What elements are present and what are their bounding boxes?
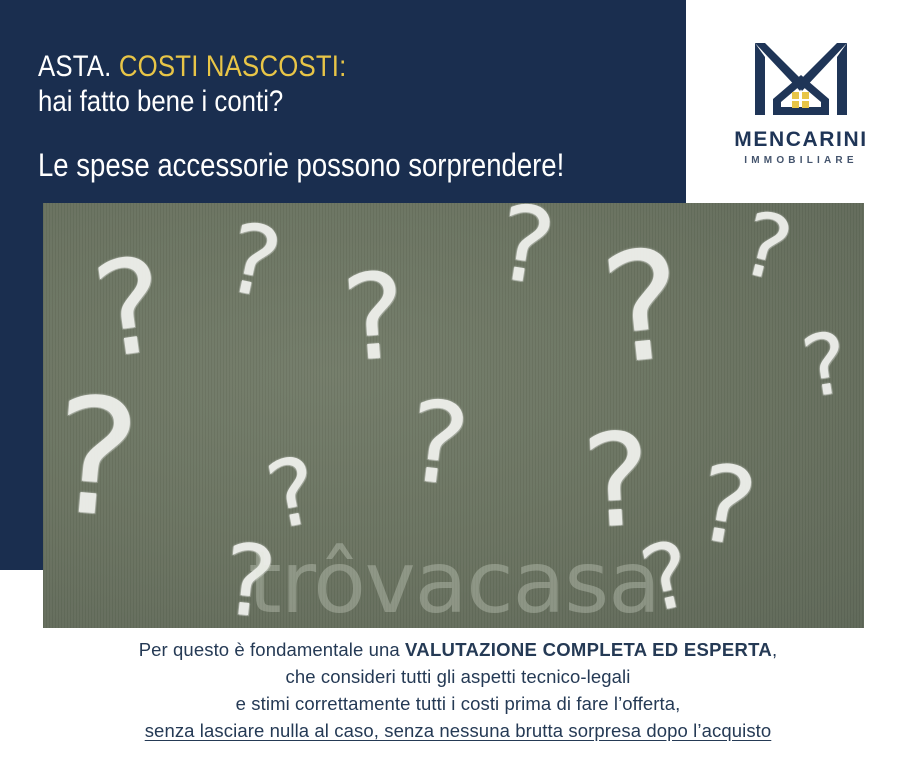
house-monogram-m-icon [745, 35, 857, 121]
chalk-question-mark: ? [46, 375, 145, 542]
poster-canvas: ASTA. COSTI NASCOSTI: hai fatto bene i c… [0, 0, 916, 768]
watermark-trovacasa: trôvacasa [248, 533, 660, 628]
headline-line-2: hai fatto bene i conti? [38, 84, 588, 120]
headline-subline: Le spese accessorie possono sorprendere! [38, 146, 588, 184]
footer-line-1-tail: , [772, 639, 777, 660]
footer-line-1-bold: VALUTAZIONE COMPLETA ED ESPERTA [405, 639, 772, 660]
footer-line-1-lead: Per questo è fondamentale una [139, 639, 405, 660]
headline-block: ASTA. COSTI NASCOSTI: hai fatto bene i c… [38, 50, 678, 184]
footer-line-4: senza lasciare nulla al caso, senza ness… [0, 717, 916, 744]
chalk-question-mark: ? [595, 229, 690, 387]
footer-line-2: che consideri tutti gli aspetti tecnico-… [0, 663, 916, 690]
footer-line-1: Per questo è fondamentale una VALUTAZION… [0, 636, 916, 663]
logo-brand-name: MENCARINI [734, 128, 867, 152]
footer-line-3: e stimi correttamente tutti i costi prim… [0, 690, 916, 717]
headline-prefix: ASTA. [38, 50, 119, 83]
four-pane-window-icon [792, 92, 809, 108]
chalk-question-mark: ? [339, 256, 410, 378]
logo-brand-subtitle: IMMOBILIARE [744, 155, 857, 166]
footer-copy: Per questo è fondamentale una VALUTAZION… [0, 636, 916, 744]
brand-logo[interactable]: MENCARINI IMMOBILIARE [686, 0, 916, 200]
headline-line-1: ASTA. COSTI NASCOSTI: [38, 50, 588, 84]
headline-accent: COSTI NASCOSTI: [119, 50, 347, 83]
hero-photo: ?????????????? trôvacasa [43, 203, 864, 628]
